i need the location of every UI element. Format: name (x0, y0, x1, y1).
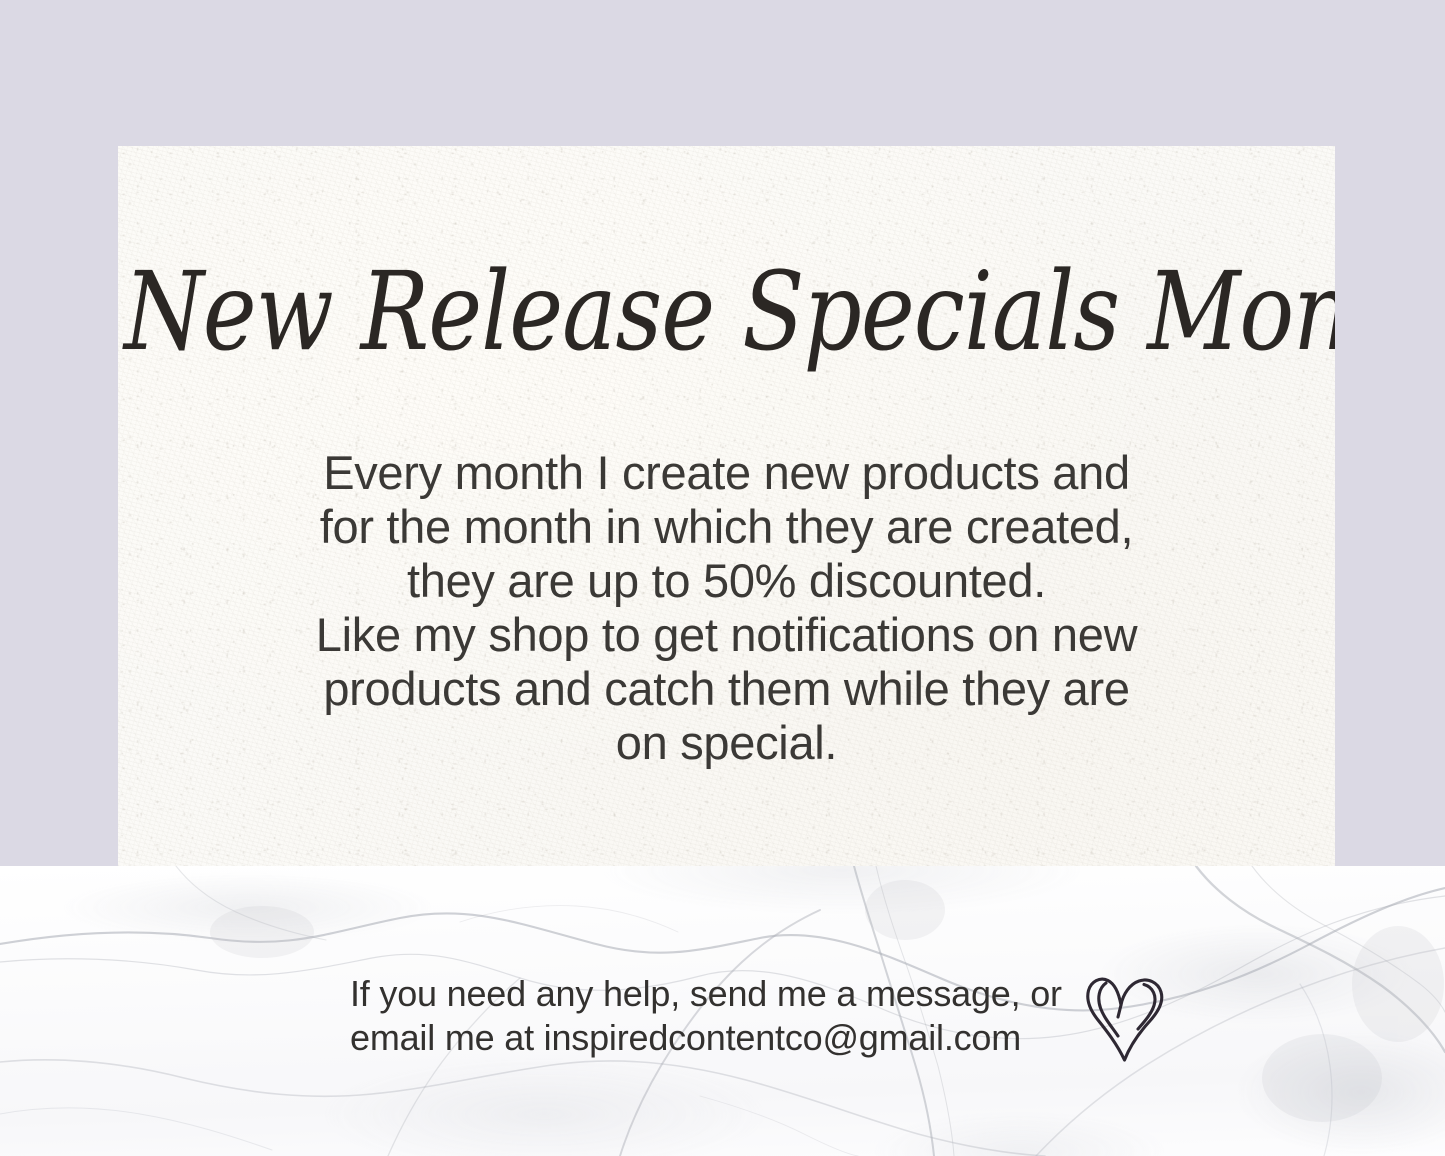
card-content: New Release Specials Monthly Every month… (118, 146, 1335, 866)
paper-card: New Release Specials Monthly Every month… (118, 146, 1335, 866)
body-line-4: Like my shop to get notifications on new (247, 608, 1207, 662)
body-line-1: Every month I create new products and (247, 446, 1207, 500)
body-line-3: they are up to 50% discounted. (247, 554, 1207, 608)
body-copy: Every month I create new products and fo… (247, 446, 1207, 770)
body-line-5: products and catch them while they are (247, 662, 1207, 716)
body-line-6: on special. (247, 716, 1207, 770)
footer-line-1: If you need any help, send me a message,… (350, 972, 1062, 1016)
body-line-2: for the month in which they are created, (247, 500, 1207, 554)
page-title: New Release Specials Monthly (124, 258, 1329, 367)
heart-icon (1084, 972, 1168, 1064)
footer-text: If you need any help, send me a message,… (350, 972, 1062, 1060)
footer-contact-block: If you need any help, send me a message,… (350, 968, 1168, 1064)
footer-line-2: email me at inspiredcontentco@gmail.com (350, 1016, 1062, 1060)
page-root: New Release Specials Monthly Every month… (0, 0, 1445, 1156)
